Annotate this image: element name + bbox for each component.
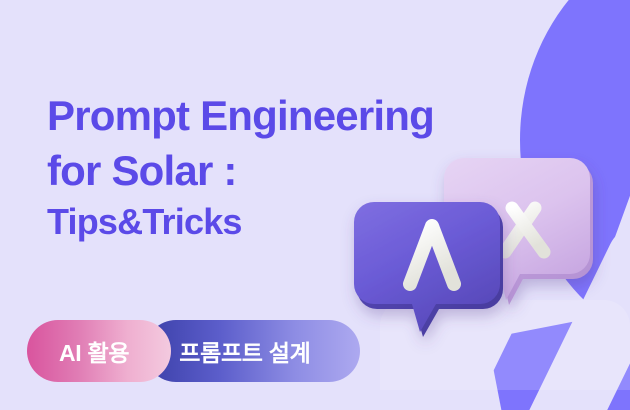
banner-title: Prompt Engineering for Solar : Tips&Tric… — [47, 88, 434, 246]
badge-ai-usage-label: AI 활용 — [59, 334, 129, 368]
category-badges: AI 활용 프롬프트 설계 — [27, 320, 360, 382]
badge-prompt-design[interactable]: 프롬프트 설계 — [145, 320, 360, 382]
badge-ai-usage[interactable]: AI 활용 — [27, 320, 171, 382]
title-line-3: Tips&Tricks — [47, 198, 434, 246]
title-line-1: Prompt Engineering — [47, 88, 434, 143]
badge-prompt-design-label: 프롬프트 설계 — [179, 334, 310, 368]
title-line-2: for Solar : — [47, 143, 434, 198]
course-promo-banner: Prompt Engineering for Solar : Tips&Tric… — [0, 0, 630, 410]
